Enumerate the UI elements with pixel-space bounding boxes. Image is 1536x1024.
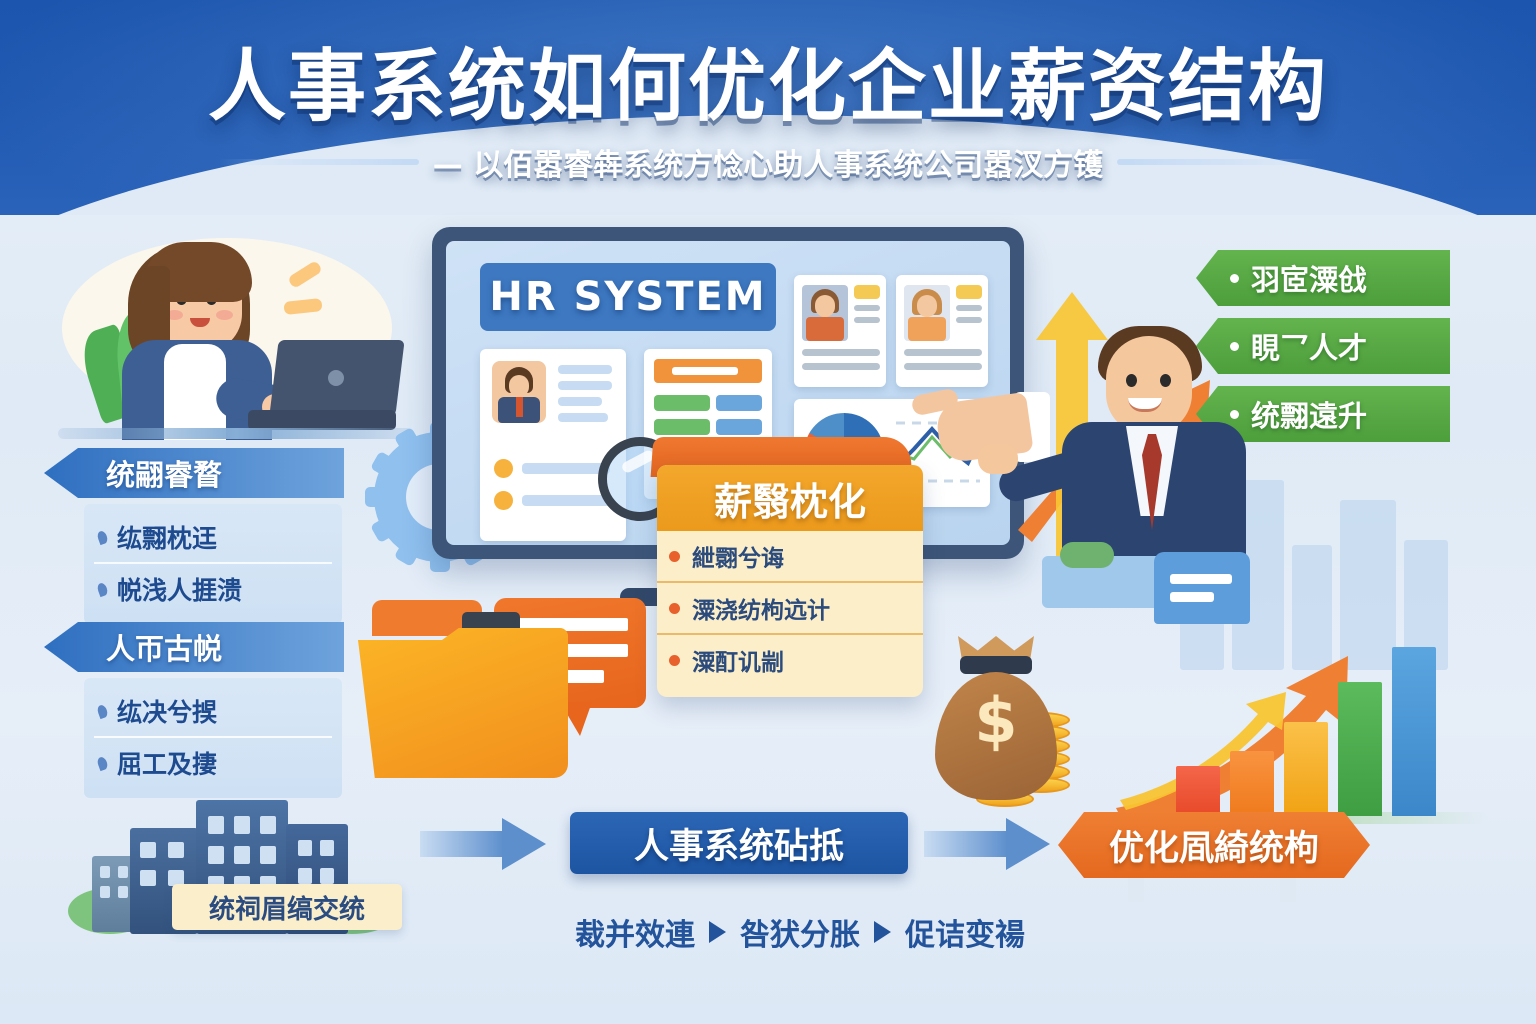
list-item-label: 纮决兮捑	[117, 693, 217, 729]
bottom-step-3: 促诘变禓	[905, 910, 1025, 954]
flow-result-label: 优化凮綺统枸	[1109, 820, 1319, 871]
desk-surface	[58, 428, 414, 439]
chart-bar	[1284, 722, 1328, 816]
bullet-icon	[96, 529, 109, 544]
field-line	[904, 349, 982, 356]
list-item-label: 紲翾兮诲	[692, 539, 784, 573]
hand	[978, 444, 1018, 474]
signpost-legs	[1128, 874, 1298, 902]
field-line	[522, 495, 610, 506]
bullet-icon	[669, 603, 680, 614]
benefit-badge-1-label: 羽宧潥戗	[1251, 257, 1367, 299]
chart-bar	[1176, 766, 1220, 816]
company-label: 统祠眉缟交统	[172, 884, 402, 930]
flow-step-middle[interactable]: 人事系统砧抵	[570, 812, 908, 874]
flow-arrow-2	[924, 818, 1050, 870]
field-line	[558, 397, 602, 406]
left-panel-1-list: 纮翲枕迋 帨浅人捱溃	[84, 504, 342, 624]
document-line	[1170, 574, 1232, 584]
list-item-label: 潥酊讥剬	[692, 643, 784, 677]
salary-card-header: 薪翳枕化	[657, 465, 923, 531]
left-panel-1-heading: 统翤睿瞀	[44, 448, 344, 498]
subtitle-rule-right	[1117, 159, 1317, 165]
hr-staff-illustration	[36, 232, 436, 447]
flow-step-middle-label: 人事系统砧抵	[634, 818, 844, 869]
field-line	[956, 317, 982, 323]
bottom-step-2: 咎犾分胀	[740, 910, 860, 954]
bullet-icon	[96, 703, 109, 718]
bullet-icon	[669, 551, 680, 562]
avatar	[802, 285, 848, 341]
chevron-right-icon	[709, 921, 726, 943]
salary-card-title: 薪翳枕化	[714, 471, 866, 526]
left-panel-2-heading: 人帀古帨	[44, 622, 344, 672]
eye	[1160, 374, 1171, 387]
bullet-icon	[1230, 274, 1239, 283]
list-item[interactable]: 纮翲枕迋	[94, 512, 332, 562]
laptop-keyboard	[248, 410, 396, 430]
bullet-icon	[669, 655, 680, 666]
bullet-icon	[96, 581, 109, 596]
face	[1106, 336, 1192, 434]
chart-bar	[1392, 647, 1436, 816]
status-dot	[494, 491, 513, 510]
page-title: 人事系统如何优化企业薪资结构	[0, 24, 1536, 136]
field-line	[558, 365, 612, 374]
flow-result[interactable]: 优化凮綺统枸	[1058, 812, 1370, 878]
left-panel-2[interactable]: 人帀古帨 纮决兮捑 屈工及捿	[44, 622, 344, 798]
flow-arrow-1	[420, 818, 546, 870]
field-line	[802, 363, 880, 370]
list-item[interactable]: 屈工及捿	[94, 736, 332, 788]
list-item[interactable]: 紲翾兮诲	[657, 531, 923, 581]
subtitle-rule-left	[219, 159, 419, 165]
list-item-label: 潥浇纺枸迒计	[692, 591, 830, 625]
field-chip	[716, 419, 762, 435]
hr-system-title: HR SYSTEM	[489, 274, 766, 320]
bottom-step-1: 裁并效連	[575, 910, 695, 954]
avatar	[904, 285, 950, 341]
list-item[interactable]: 帨浅人捱溃	[94, 562, 332, 614]
form-header-bar	[654, 359, 762, 383]
field-line	[854, 305, 880, 311]
bottom-step-row: 裁并效連 咎犾分胀 促诘变禓	[540, 910, 1060, 954]
subtitle-row: — 以佰嚣睿犇系统方惗心助人事系统公司嚣汊方镬	[0, 140, 1536, 184]
laptop-logo	[328, 370, 344, 386]
benefit-badge-1[interactable]: 羽宧潥戗	[1196, 250, 1450, 306]
mouth	[190, 318, 210, 327]
field-line	[802, 349, 880, 356]
chart-bar	[1230, 751, 1274, 816]
bullet-icon	[96, 755, 109, 770]
avatar	[492, 361, 546, 423]
status-dot	[494, 459, 513, 478]
field-line	[904, 363, 982, 370]
page-subtitle: — 以佰嚣睿犇系统方惗心助人事系统公司嚣汊方镬	[433, 140, 1103, 184]
field-line	[558, 381, 612, 390]
infographic-canvas: 人事系统如何优化企业薪资结构 — 以佰嚣睿犇系统方惗心助人事系统公司嚣汊方镬	[0, 0, 1536, 1024]
left-panel-1[interactable]: 统翤睿瞀 纮翲枕迋 帨浅人捱溃	[44, 448, 344, 624]
salary-optimization-card[interactable]: 薪翳枕化 紲翾兮诲 潥浇纺枸迒计 潥酊讥剬	[657, 465, 923, 697]
field-chip	[654, 419, 710, 435]
chart-bar	[1338, 682, 1382, 816]
list-item[interactable]: 纮决兮捑	[94, 686, 332, 736]
list-item-label: 纮翲枕迋	[117, 519, 217, 555]
list-item-label: 帨浅人捱溃	[117, 571, 242, 607]
field-line	[522, 463, 610, 474]
field-line	[956, 305, 982, 311]
hr-system-title-bar: HR SYSTEM	[480, 263, 776, 331]
chevron-right-icon	[874, 921, 891, 943]
bar-chart	[1168, 636, 1478, 816]
field-line	[854, 317, 880, 323]
employee-profile-card[interactable]	[480, 349, 626, 541]
left-panel-2-list: 纮决兮捑 屈工及捿	[84, 678, 342, 798]
dollar-symbol: $	[966, 690, 1026, 752]
folder-icon	[358, 628, 568, 778]
field-line	[558, 413, 608, 422]
cheek	[216, 310, 233, 320]
list-item-label: 屈工及捿	[117, 745, 217, 781]
badge	[956, 285, 982, 299]
list-item[interactable]: 潥酊讥剬	[657, 633, 923, 685]
field-chip	[716, 395, 762, 411]
field-chip	[654, 395, 710, 411]
plant-prop	[1060, 542, 1114, 568]
resume-card[interactable]	[794, 275, 886, 387]
list-item[interactable]: 潥浇纺枸迒计	[657, 581, 923, 633]
badge	[854, 285, 880, 299]
eye	[1126, 374, 1137, 387]
resume-card[interactable]	[896, 275, 988, 387]
